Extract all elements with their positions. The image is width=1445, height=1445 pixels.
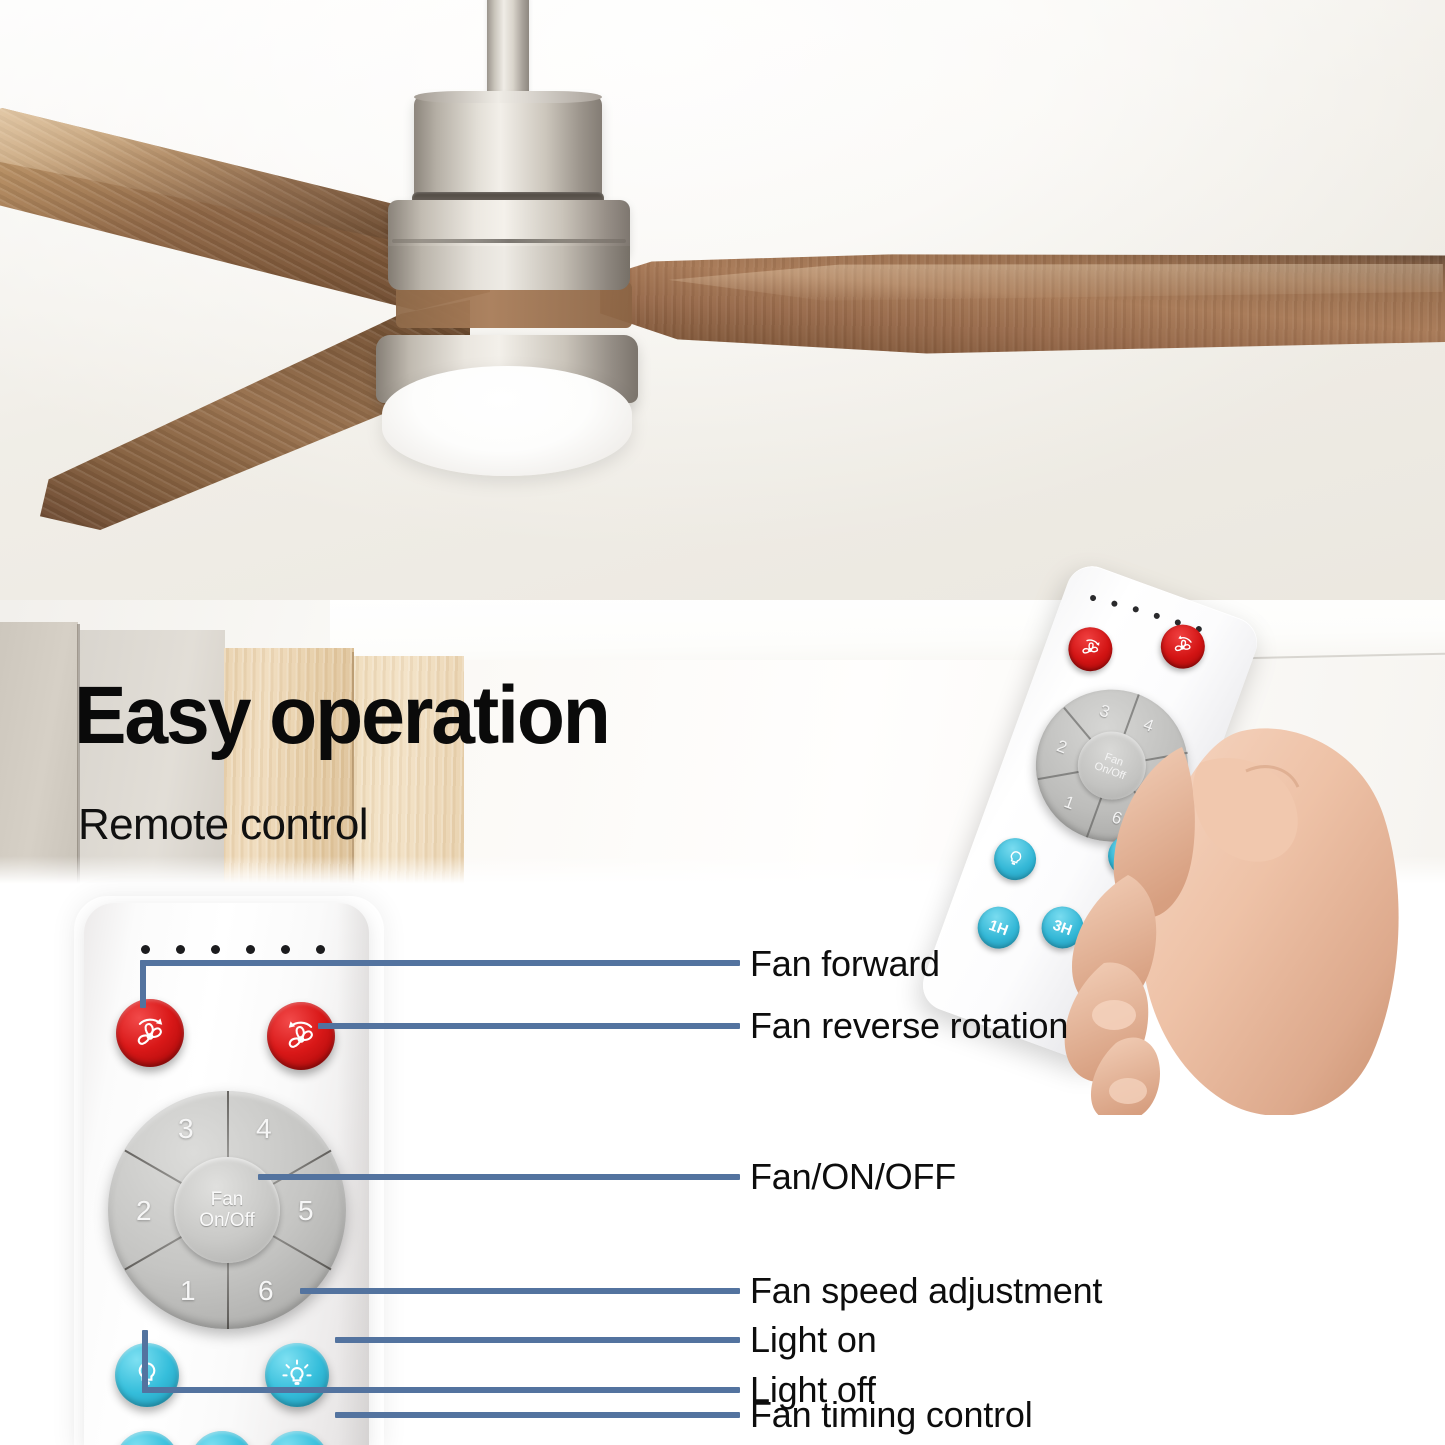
- leader-light-on: [335, 1337, 740, 1343]
- fan-on-off-button-small[interactable]: Fan On/Off: [1068, 722, 1155, 809]
- speed-3-label-small: 3: [1097, 701, 1113, 723]
- speed-6-button[interactable]: 6: [258, 1275, 274, 1307]
- leader-fan-reverse: [318, 1023, 740, 1029]
- fan-forward-button[interactable]: [116, 999, 184, 1067]
- page-title: Easy operation: [74, 675, 609, 757]
- gray-cabinet-panel-left: [0, 622, 78, 888]
- speed-5-button[interactable]: 5: [298, 1195, 314, 1227]
- leader-fan-forward-horizontal: [140, 960, 740, 966]
- leader-fan-on-off: [258, 1174, 740, 1180]
- ceiling-fan-photo: [0, 0, 1445, 600]
- speed-2-label-small: 2: [1054, 736, 1070, 758]
- fan-on-off-button[interactable]: Fan On/Off: [174, 1157, 280, 1263]
- leader-light-off-vertical: [142, 1330, 148, 1393]
- fan-clockwise-icon: [1072, 631, 1108, 667]
- fan-counterclockwise-icon: [279, 1014, 323, 1058]
- infographic-canvas: Easy operation Remote control: [0, 0, 1445, 1445]
- bulb-plain-icon: [1001, 845, 1029, 873]
- fan-motor-housing-lower: [388, 246, 630, 290]
- timer-6h-button[interactable]: 6H: [265, 1431, 329, 1445]
- leader-light-off-horizontal: [142, 1387, 740, 1393]
- leader-fan-forward-vertical: [140, 960, 146, 1008]
- light-on-button[interactable]: [265, 1343, 329, 1407]
- page-subtitle: Remote control: [78, 800, 368, 850]
- fan-reverse-button[interactable]: [267, 1002, 335, 1070]
- fan-motor-housing-upper: [414, 95, 602, 203]
- fan-counterclockwise-icon: [1165, 629, 1201, 665]
- speed-1-label-small: 1: [1061, 792, 1077, 814]
- leader-fan-speed: [300, 1288, 740, 1294]
- fan-label: Fan: [211, 1189, 244, 1210]
- callout-label-fan-timing: Fan timing control: [750, 1394, 1033, 1436]
- fan-clockwise-icon: [128, 1011, 172, 1055]
- bulb-rays-icon: [1115, 842, 1143, 870]
- callout-label-light-on: Light on: [750, 1319, 877, 1361]
- speed-1-button[interactable]: 1: [180, 1275, 196, 1307]
- speed-2-button[interactable]: 2: [136, 1195, 152, 1227]
- on-off-label: On/Off: [199, 1210, 255, 1231]
- fingernail: [1109, 1078, 1147, 1104]
- speed-3-button[interactable]: 3: [178, 1113, 194, 1145]
- led-light-lens: [382, 366, 632, 476]
- speed-4-button[interactable]: 4: [256, 1113, 272, 1145]
- callout-label-fan-speed: Fan speed adjustment: [750, 1270, 1102, 1312]
- ir-indicator-dots: [141, 945, 321, 955]
- callout-label-fan-on-off: Fan/ON/OFF: [750, 1156, 956, 1198]
- speed-6-label-small: 6: [1109, 807, 1125, 829]
- callout-label-fan-reverse: Fan reverse rotation: [750, 1005, 1068, 1047]
- timer-3h-button[interactable]: 3H: [190, 1431, 254, 1445]
- speed-5-label-small: 5: [1150, 771, 1166, 793]
- speed-4-label-small: 4: [1141, 715, 1157, 737]
- leader-fan-timing: [335, 1412, 740, 1418]
- callout-label-fan-forward: Fan forward: [750, 943, 940, 985]
- timer-1h-button[interactable]: 1H: [115, 1431, 179, 1445]
- fan-motor-seam: [392, 239, 626, 243]
- thumb-crease: [1246, 767, 1298, 787]
